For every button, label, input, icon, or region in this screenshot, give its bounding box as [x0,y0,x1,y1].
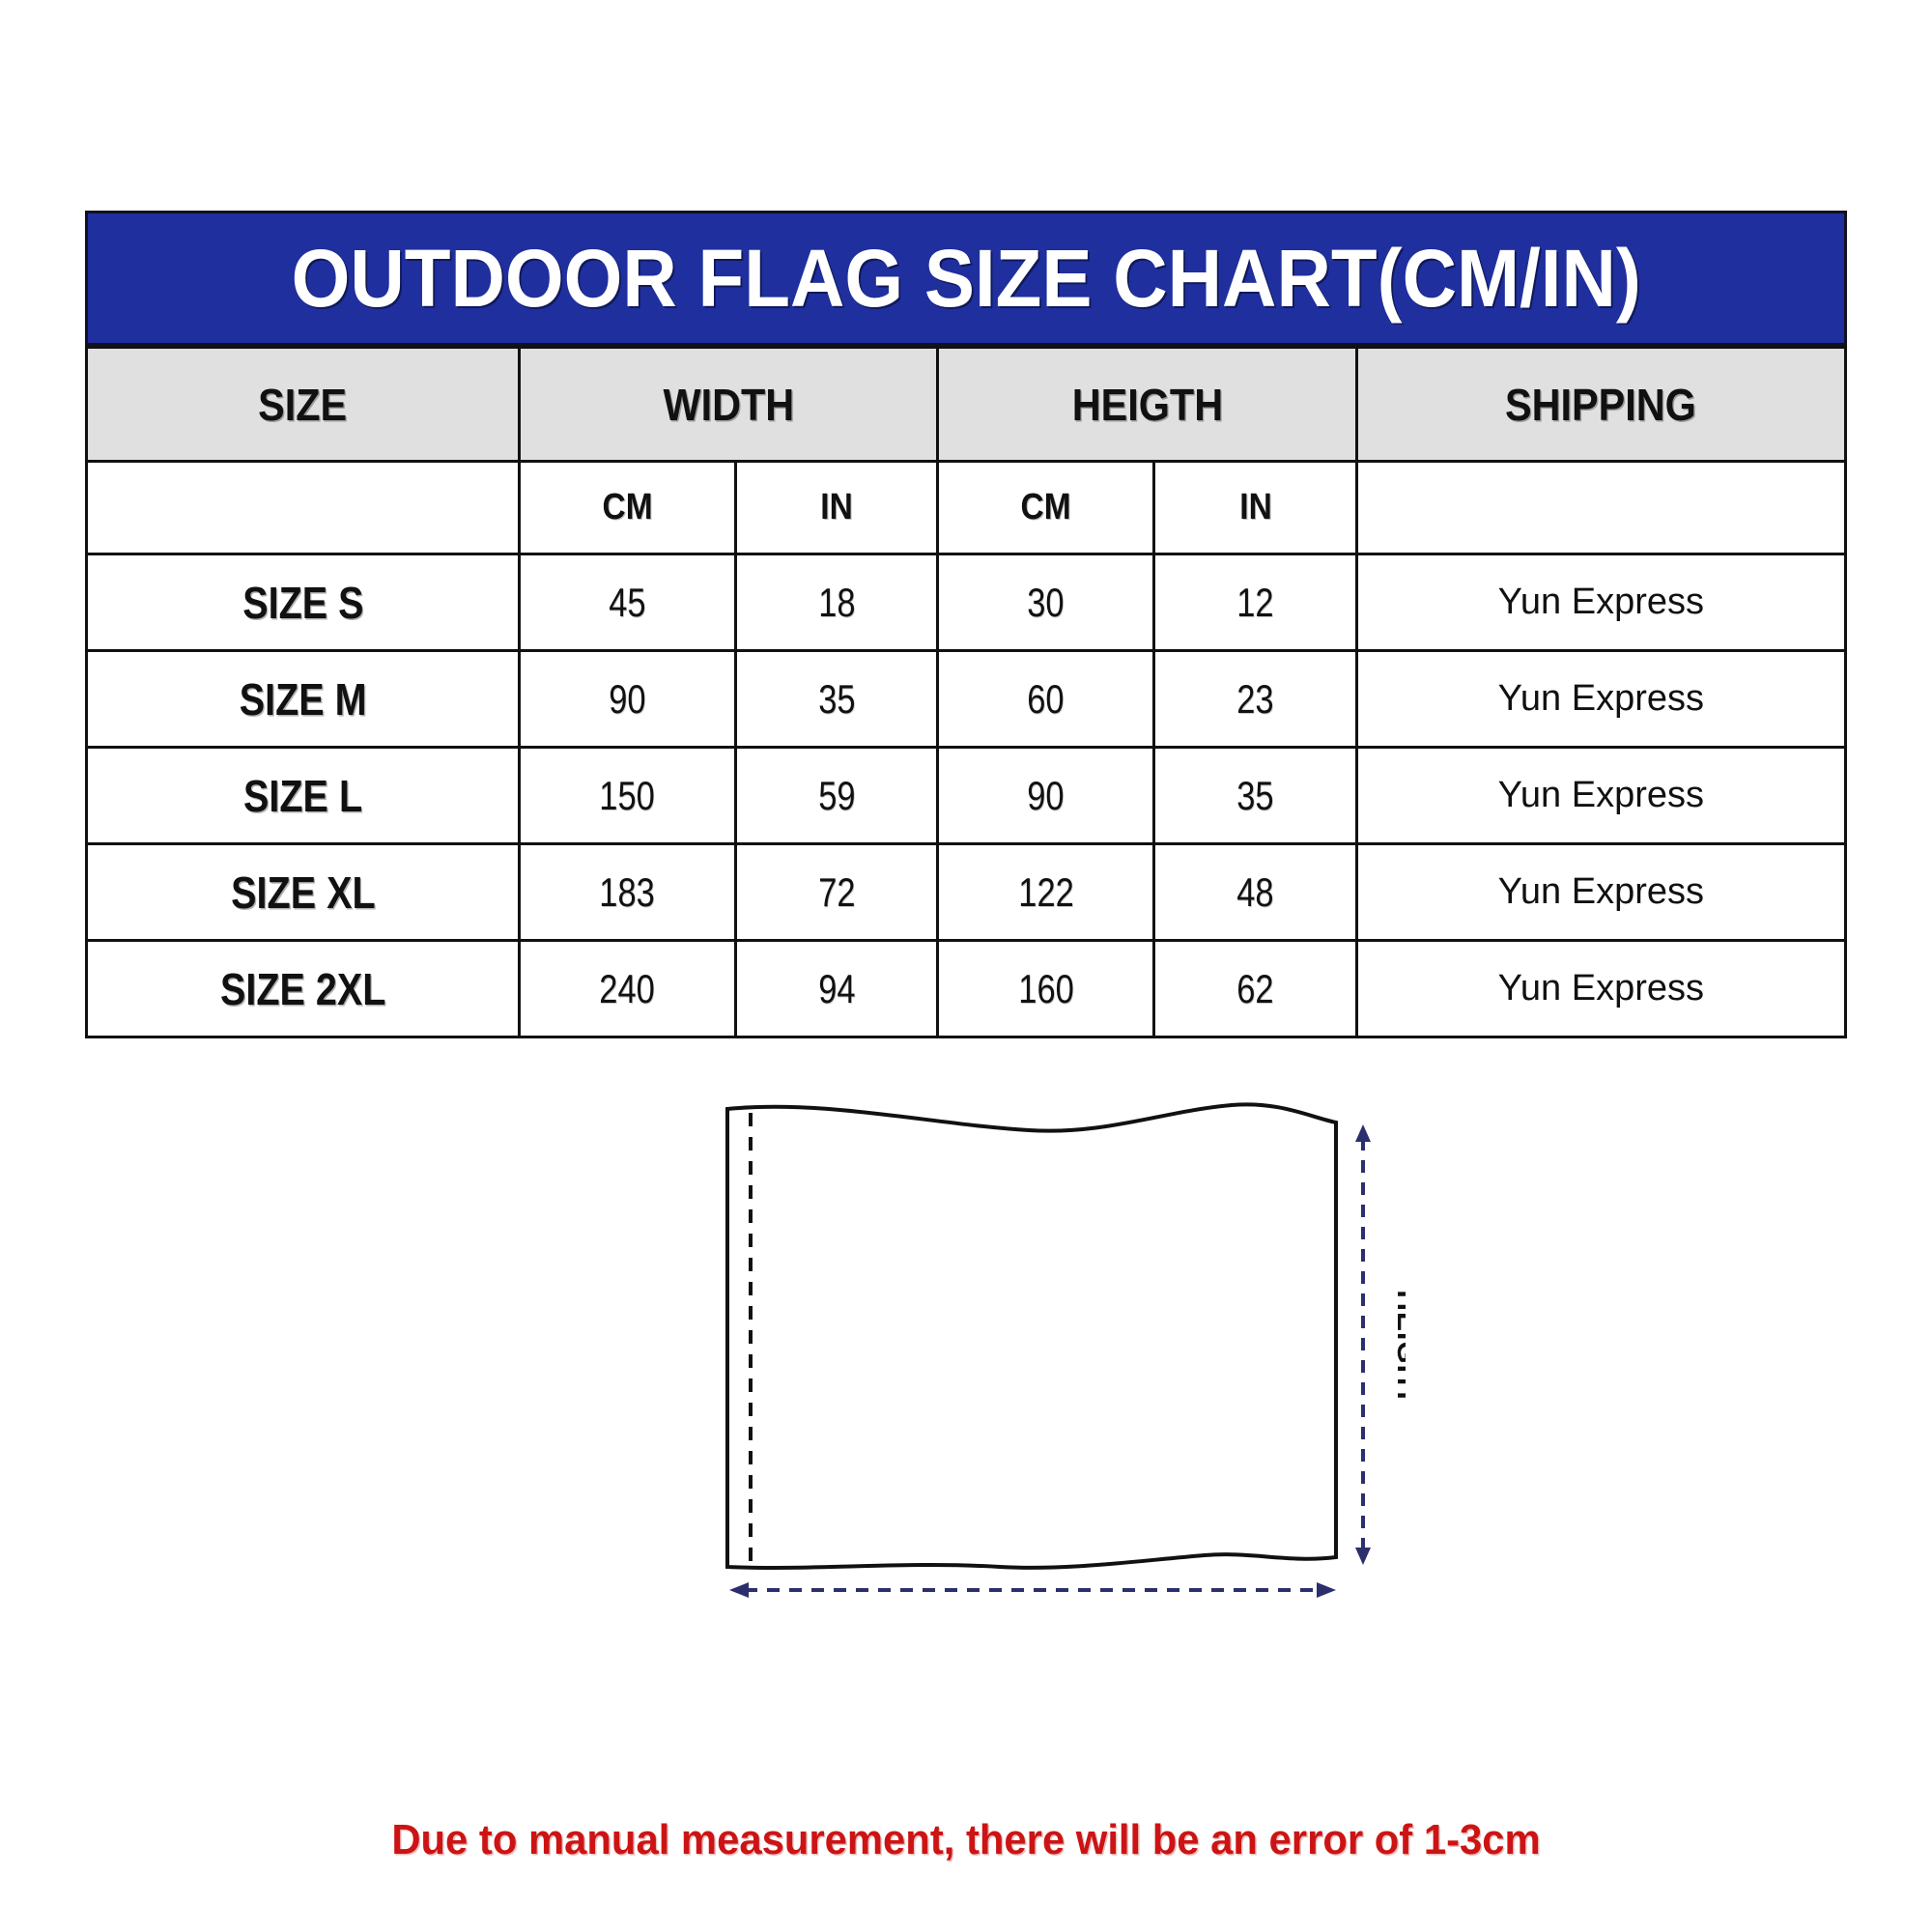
width-cm-value: 90 [609,676,645,723]
width-in-value: 35 [818,676,855,723]
width-in-value: 94 [818,966,855,1012]
unit-height-cm-label: CM [1021,487,1071,528]
cell-height-in: 12 [1154,554,1356,651]
width-in-value: 59 [818,773,855,819]
height-cm-value: 122 [1018,869,1073,916]
shipping-value: Yun Express [1498,871,1704,912]
table-row: SIZE S 45 18 30 12 Yun Express [87,554,1846,651]
height-in-value: 62 [1236,966,1273,1012]
cell-width-in: 59 [735,748,937,844]
cell-shipping: Yun Express [1356,748,1845,844]
unit-blank-left [87,462,520,554]
cell-width-in: 35 [735,651,937,748]
unit-blank-right [1356,462,1845,554]
header-size: SIZE [87,348,520,462]
cell-height-cm: 160 [938,941,1154,1037]
width-dimension-label: WIDTH [982,1609,1082,1613]
unit-width-cm-label: CM [602,487,652,528]
height-in-value: 48 [1236,869,1273,916]
cell-width-in: 94 [735,941,937,1037]
cell-height-in: 62 [1154,941,1356,1037]
size-label: SIZE S [242,577,363,629]
cell-width-in: 18 [735,554,937,651]
table-row: SIZE L 150 59 90 35 Yun Express [87,748,1846,844]
table-row: SIZE XL 183 72 122 48 Yun Express [87,844,1846,941]
cell-shipping: Yun Express [1356,651,1845,748]
cell-size: SIZE XL [87,844,520,941]
unit-width-in-label: IN [820,487,852,528]
cell-height-in: 48 [1154,844,1356,941]
size-table: SIZE WIDTH HEIGTH SHIPPING [85,346,1847,1038]
table-row: SIZE M 90 35 60 23 Yun Express [87,651,1846,748]
table-row: SIZE 2XL 240 94 160 62 Yun Express [87,941,1846,1037]
height-cm-value: 90 [1028,773,1065,819]
header-height-label: HEIGTH [1071,379,1222,431]
cell-shipping: Yun Express [1356,941,1845,1037]
size-chart-page: OUTDOOR FLAG SIZE CHART(CM/IN) SIZE WIDT… [0,0,1932,1932]
width-in-value: 18 [818,580,855,626]
size-chart-block: OUTDOOR FLAG SIZE CHART(CM/IN) SIZE WIDT… [85,211,1847,1038]
width-cm-value: 150 [600,773,655,819]
group-header-row: SIZE WIDTH HEIGTH SHIPPING [87,348,1846,462]
header-shipping-label: SHIPPING [1505,379,1696,431]
shipping-value: Yun Express [1498,678,1704,719]
header-width-label: WIDTH [663,379,794,431]
flag-measurement-diagram: HEIGHT WIDTH [710,1092,1406,1613]
shipping-value: Yun Express [1498,582,1704,622]
chart-title-bar: OUTDOOR FLAG SIZE CHART(CM/IN) [85,211,1847,346]
width-dimension-arrow [729,1582,1336,1598]
cell-size: SIZE 2XL [87,941,520,1037]
width-in-value: 72 [818,869,855,916]
cell-width-cm: 240 [519,941,735,1037]
header-shipping: SHIPPING [1356,348,1845,462]
width-cm-value: 240 [600,966,655,1012]
cell-height-cm: 122 [938,844,1154,941]
cell-width-cm: 45 [519,554,735,651]
cell-size: SIZE S [87,554,520,651]
cell-height-cm: 30 [938,554,1154,651]
shipping-value: Yun Express [1498,775,1704,815]
header-height: HEIGTH [938,348,1356,462]
cell-width-in: 72 [735,844,937,941]
cell-height-cm: 60 [938,651,1154,748]
height-in-value: 12 [1236,580,1273,626]
shipping-value: Yun Express [1498,968,1704,1009]
height-in-value: 35 [1236,773,1273,819]
size-label: SIZE XL [231,867,375,919]
cell-height-in: 35 [1154,748,1356,844]
cell-size: SIZE M [87,651,520,748]
flag-outline [727,1104,1336,1568]
unit-width-cm: CM [519,462,735,554]
unit-header-row: CM IN CM IN [87,462,1846,554]
page-title: OUTDOOR FLAG SIZE CHART(CM/IN) [291,232,1640,326]
size-label: SIZE 2XL [220,963,385,1015]
cell-height-cm: 90 [938,748,1154,844]
height-in-value: 23 [1236,676,1273,723]
width-cm-value: 45 [609,580,645,626]
size-label: SIZE M [240,673,367,725]
cell-width-cm: 183 [519,844,735,941]
cell-shipping: Yun Express [1356,844,1845,941]
height-cm-value: 60 [1028,676,1065,723]
size-label: SIZE L [243,770,362,822]
measurement-error-note: Due to manual measurement, there will be… [48,1816,1884,1864]
unit-height-in-label: IN [1239,487,1271,528]
height-cm-value: 30 [1028,580,1065,626]
cell-height-in: 23 [1154,651,1356,748]
unit-width-in: IN [735,462,937,554]
width-cm-value: 183 [600,869,655,916]
height-dimension-arrow [1355,1124,1371,1565]
cell-shipping: Yun Express [1356,554,1845,651]
header-width: WIDTH [519,348,937,462]
cell-width-cm: 90 [519,651,735,748]
header-size-label: SIZE [258,379,347,431]
unit-height-cm: CM [938,462,1154,554]
height-dimension-label: HEIGHT [1391,1290,1406,1405]
cell-size: SIZE L [87,748,520,844]
height-cm-value: 160 [1018,966,1073,1012]
cell-width-cm: 150 [519,748,735,844]
unit-height-in: IN [1154,462,1356,554]
